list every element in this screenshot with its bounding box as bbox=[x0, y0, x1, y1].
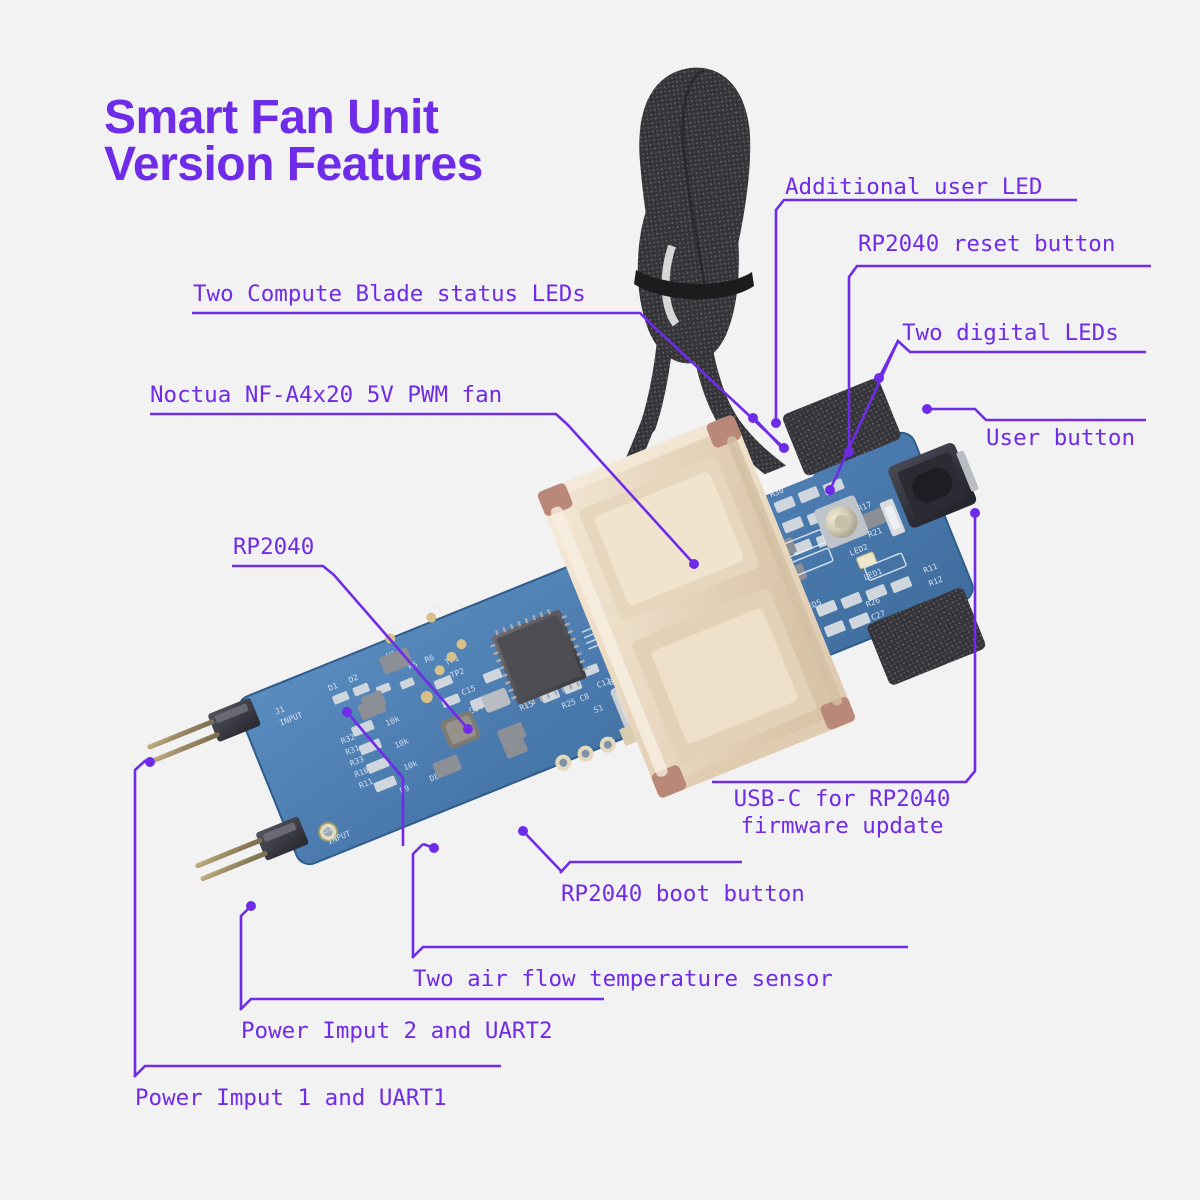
label-power-imput-2-uart2: Power Imput 2 and UART2 bbox=[241, 1018, 553, 1045]
label-two-compute-blade-leds: Two Compute Blade status LEDs bbox=[193, 281, 586, 308]
page-title: Smart Fan UnitVersion Features bbox=[104, 94, 483, 188]
label-two-digital-leds: Two digital LEDs bbox=[902, 320, 1119, 347]
label-usb-c-firmware-line2: firmware update bbox=[740, 813, 943, 839]
label-usb-c-firmware-line1: USB-C for RP2040 bbox=[734, 786, 951, 812]
label-power-imput-1-uart1: Power Imput 1 and UART1 bbox=[135, 1085, 447, 1112]
label-usb-c-firmware: USB-C for RP2040firmware update bbox=[712, 786, 972, 840]
leader-rp2040 bbox=[232, 566, 473, 734]
page-title-line2: Version Features bbox=[104, 138, 483, 191]
label-noctua-fan: Noctua NF-A4x20 5V PWM fan bbox=[150, 382, 502, 409]
leader-rp2040-boot-button bbox=[518, 826, 742, 873]
label-user-button: User button bbox=[986, 425, 1135, 452]
page-title-line1: Smart Fan Unit bbox=[104, 91, 438, 144]
label-rp2040-boot-button: RP2040 boot button bbox=[561, 881, 805, 908]
illustration-canvas: J1 INPUT J2 INPUT D1 D2 U1 R5 R6 R32 R31… bbox=[0, 0, 1200, 1200]
label-rp2040: RP2040 bbox=[233, 534, 314, 561]
leader-power-input-2 bbox=[240, 901, 604, 1010]
label-rp2040-reset-button: RP2040 reset button bbox=[858, 231, 1115, 258]
label-additional-user-led: Additional user LED bbox=[785, 174, 1042, 201]
leader-usb-c-firmware bbox=[712, 508, 980, 782]
label-two-air-flow-sensor: Two air flow temperature sensor bbox=[413, 966, 833, 993]
leader-user-button bbox=[922, 404, 1146, 420]
